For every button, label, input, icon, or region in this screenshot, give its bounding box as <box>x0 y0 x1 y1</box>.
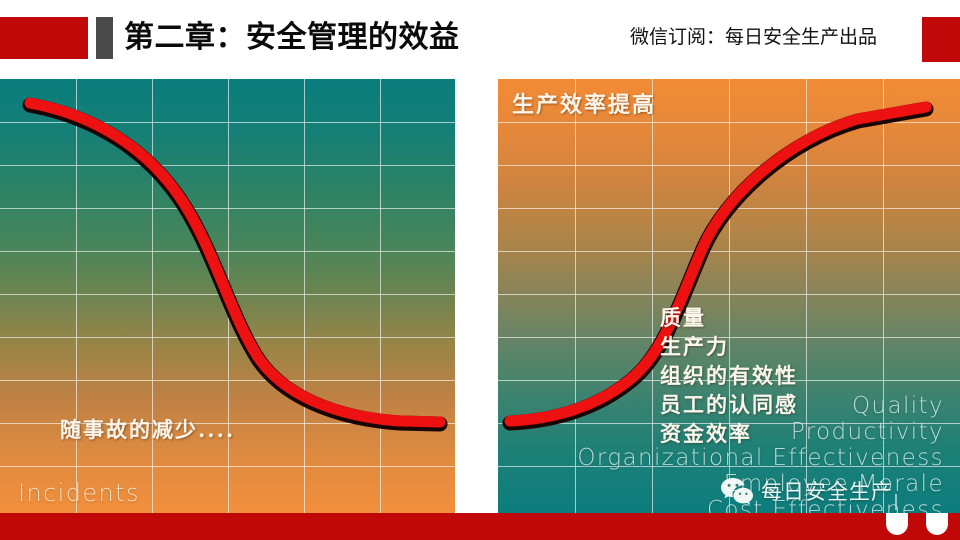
wechat-icon <box>720 476 754 506</box>
left-chart-annotation: 随事故的减少.... <box>60 414 235 444</box>
header-red-block-right <box>922 17 960 62</box>
header-subtitle: 微信订阅：每日安全生产出品 <box>630 24 877 52</box>
right-chart-headline: 生产效率提高 <box>512 87 656 119</box>
footer-red-bar <box>0 513 960 540</box>
slide-root: 第二章：安全管理的效益 微信订阅：每日安全生产出品 随事故的减少.... <box>0 0 960 540</box>
page-title: 第二章：安全管理的效益 <box>124 17 460 59</box>
footer-arrow-stem <box>895 494 897 510</box>
benefit-item: 员工的认同感 <box>660 390 798 419</box>
footer-dot <box>886 513 908 535</box>
left-chart-axis-word: Incidents <box>18 479 140 507</box>
header-red-block-left <box>0 17 88 59</box>
wechat-watermark: 每日安全生产 <box>720 476 893 506</box>
header-gray-accent-bar <box>96 17 113 59</box>
benefit-item: 资金效率 <box>660 419 798 448</box>
faint-label-organizational-effectiveness: Organizational Effectiveness <box>577 445 944 471</box>
right-chart-benefit-list: 质量 生产力 组织的有效性 员工的认同感 资金效率 <box>660 303 798 448</box>
benefit-item: 质量 <box>660 303 798 332</box>
watermark-text: 每日安全生产 <box>761 476 893 506</box>
chart-productivity: 生产效率提高 质量 生产力 组织的有效性 员工的认同感 资金效率 Quality… <box>498 79 960 513</box>
benefit-item: 生产力 <box>660 332 798 361</box>
chart-incidents: 随事故的减少.... Incidents <box>0 79 455 513</box>
slide-header: 第二章：安全管理的效益 微信订阅：每日安全生产出品 <box>0 0 960 75</box>
benefit-item: 组织的有效性 <box>660 361 798 390</box>
chart-left-curve <box>0 79 455 513</box>
footer-dot <box>926 513 948 535</box>
faint-label-productivity: Productivity <box>791 419 944 445</box>
faint-label-quality: Quality <box>852 393 944 419</box>
